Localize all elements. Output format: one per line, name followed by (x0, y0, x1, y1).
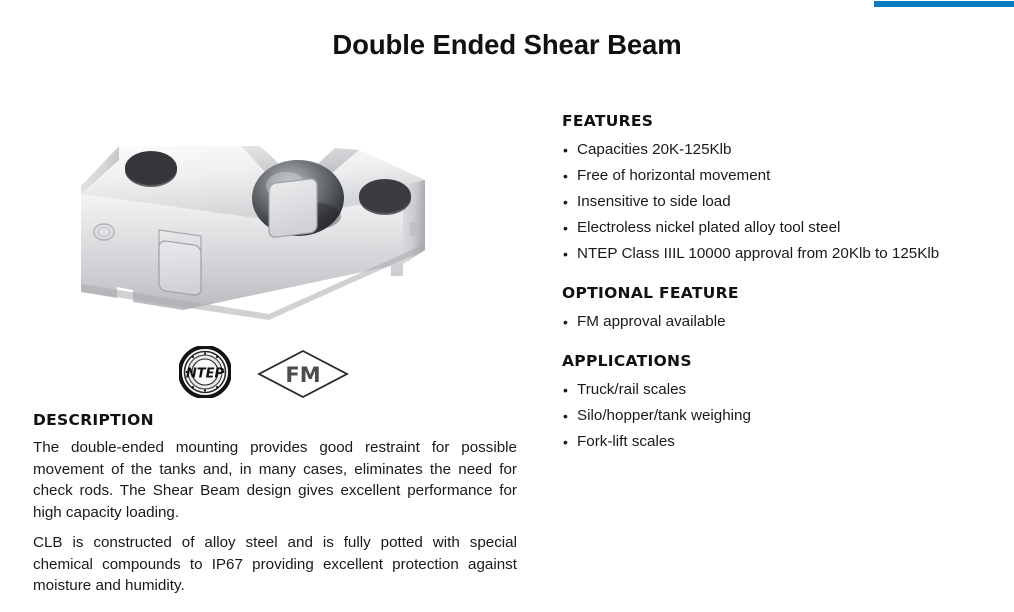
right-column: FEATURES Capacities 20K-125Klb Free of h… (562, 112, 1014, 469)
list-item: NTEP Class IIIL 10000 approval from 20Kl… (562, 241, 1014, 267)
description-paragraph: The double-ended mounting provides good … (33, 437, 517, 523)
features-list: Capacities 20K-125Klb Free of horizontal… (562, 137, 1014, 267)
list-item: Capacities 20K-125Klb (562, 137, 1014, 163)
list-item: Fork-lift scales (562, 429, 1014, 455)
applications-block: APPLICATIONS Truck/rail scales Silo/hopp… (562, 352, 1014, 455)
applications-heading: APPLICATIONS (562, 352, 1014, 370)
list-item: Silo/hopper/tank weighing (562, 403, 1014, 429)
page-title: Double Ended Shear Beam (0, 29, 1014, 61)
optional-feature-block: OPTIONAL FEATURE FM approval available (562, 284, 1014, 335)
svg-text:FM: FM (285, 363, 320, 387)
svg-text:NTEP: NTEP (186, 367, 225, 382)
product-figure: NTEP FM (33, 108, 517, 343)
list-item: FM approval available (562, 309, 1014, 335)
description-heading: DESCRIPTION (33, 411, 154, 429)
features-heading: FEATURES (562, 112, 1014, 130)
optional-feature-heading: OPTIONAL FEATURE (562, 284, 1014, 302)
fm-diamond-icon: FM (257, 349, 349, 399)
list-item: Free of horizontal movement (562, 163, 1014, 189)
ntep-seal-icon: NTEP (179, 346, 231, 398)
features-block: FEATURES Capacities 20K-125Klb Free of h… (562, 112, 1014, 267)
list-item: Electroless nickel plated alloy tool ste… (562, 215, 1014, 241)
top-accent-bar (874, 1, 1014, 7)
description-body: The double-ended mounting provides good … (33, 437, 517, 597)
description-paragraph: CLB is constructed of alloy steel and is… (33, 532, 517, 597)
list-item: Truck/rail scales (562, 377, 1014, 403)
list-item: Insensitive to side load (562, 189, 1014, 215)
certification-marks: NTEP FM (173, 346, 403, 404)
optional-feature-list: FM approval available (562, 309, 1014, 335)
left-column: NTEP FM (33, 108, 517, 343)
applications-list: Truck/rail scales Silo/hopper/tank weigh… (562, 377, 1014, 455)
product-image-load-cell (73, 124, 443, 339)
